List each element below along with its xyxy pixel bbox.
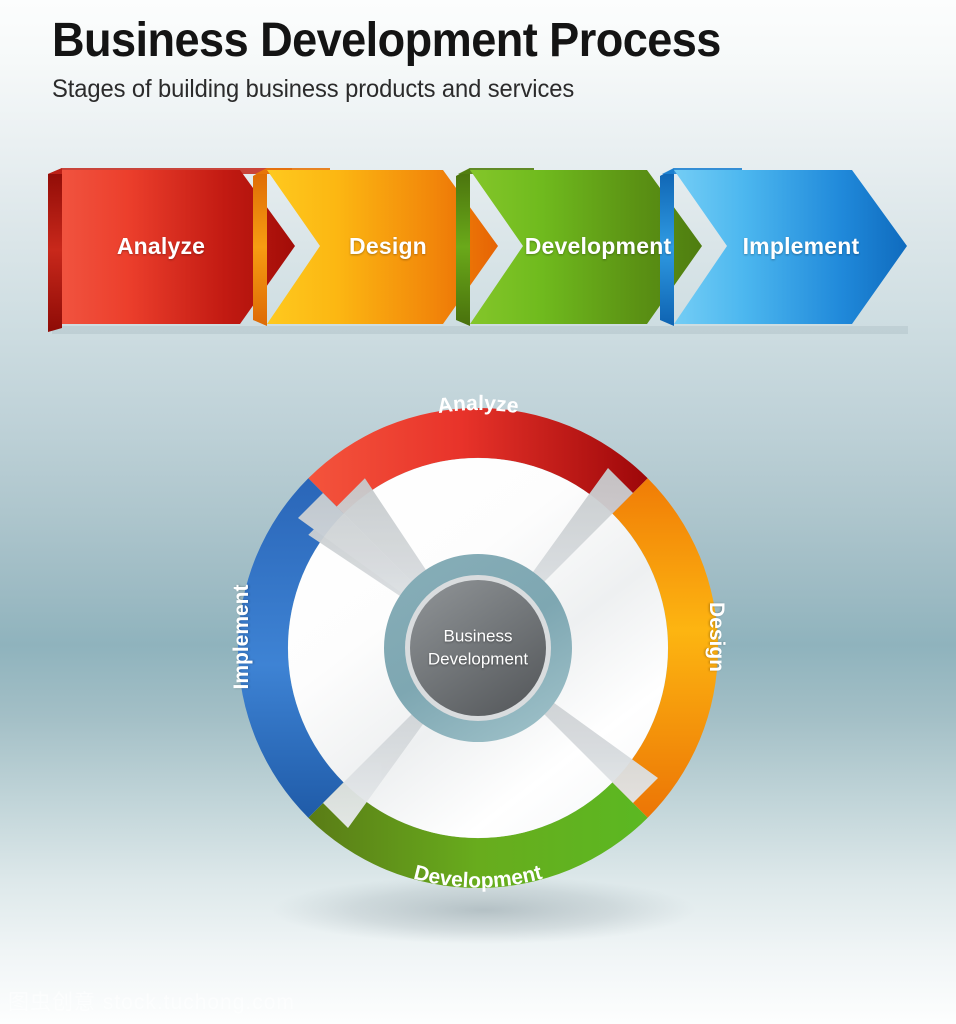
stock-watermark: 图虫创意 stock.tuchong.com xyxy=(8,986,295,1016)
wheel-label-analyze-text: Analyze xyxy=(436,392,520,418)
wheel-label-implement: Implement xyxy=(230,584,254,689)
arrow-design-bevel xyxy=(253,168,267,326)
arrow-label-design: Design xyxy=(349,233,427,260)
arrow-label-development: Development xyxy=(525,233,672,260)
page-subtitle: Stages of building business products and… xyxy=(52,75,869,104)
arrow-development-bevel xyxy=(456,168,470,326)
arrow-label-analyze: Analyze xyxy=(117,233,205,260)
process-wheel: Analyze Development xyxy=(208,378,748,958)
page-title: Business Development Process xyxy=(52,14,860,68)
hub-core xyxy=(410,580,546,716)
arrow-analyze-bevel xyxy=(48,168,62,332)
wheel-label-analyze: Analyze xyxy=(436,392,520,418)
infographic-canvas: Business Development Process Stages of b… xyxy=(0,0,956,1024)
banner-top-shadow xyxy=(52,326,908,334)
wheel-label-design: Design xyxy=(704,602,728,672)
header: Business Development Process Stages of b… xyxy=(52,14,912,104)
wheel-hub[interactable] xyxy=(384,554,572,742)
arrow-label-implement: Implement xyxy=(743,233,860,260)
